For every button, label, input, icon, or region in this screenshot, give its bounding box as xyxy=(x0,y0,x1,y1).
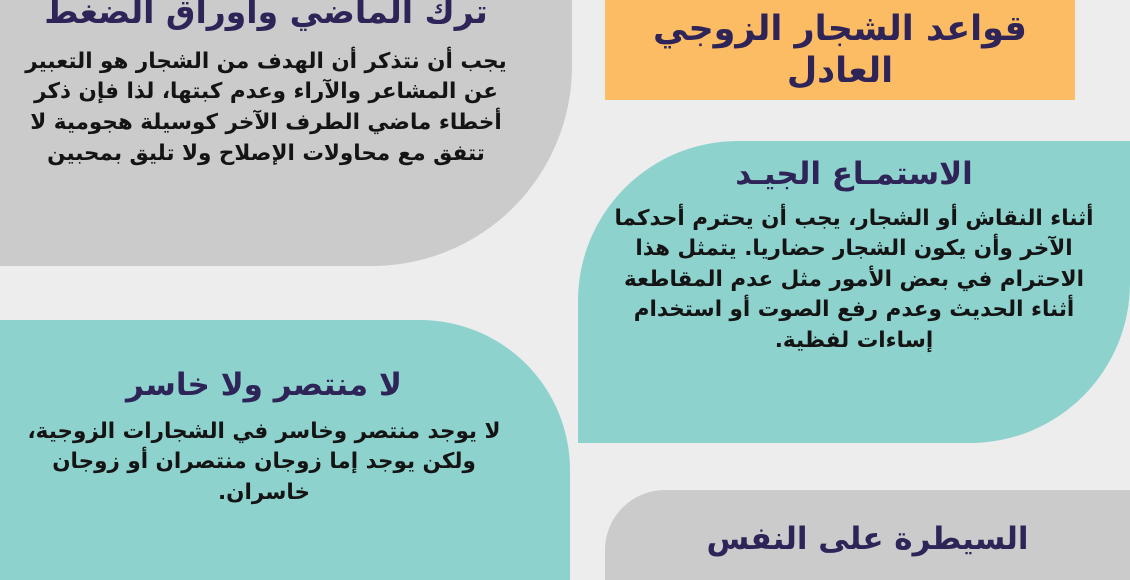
card-good-listening: الاستمـاع الجيـد أثناء النقاش أو الشجار،… xyxy=(578,141,1130,443)
card-self-control: السيطرة على النفس xyxy=(605,490,1130,580)
card-no-winner-no-loser-title: لا منتصر ولا خاسر xyxy=(126,368,402,403)
card-no-winner-no-loser-body: لا يوجد منتصر وخاسر في الشجارات الزوجية،… xyxy=(4,417,524,509)
poster-main-title: قواعد الشجار الزوجي العادل xyxy=(629,8,1051,96)
card-leaving-the-past-body: يجب أن نتذكر أن الهدف من الشجار هو التعب… xyxy=(8,47,524,169)
infographic-canvas: ترك الماضي وأوراق الضغط يجب أن نتذكر أن … xyxy=(0,0,1130,580)
poster-main-title-banner: قواعد الشجار الزوجي العادل xyxy=(605,0,1075,100)
card-self-control-title: السيطرة على النفس xyxy=(706,522,1028,557)
card-good-listening-title: الاستمـاع الجيـد xyxy=(735,157,973,192)
card-leaving-the-past-title: ترك الماضي وأوراق الضغط xyxy=(8,0,524,31)
card-no-winner-no-loser: لا منتصر ولا خاسر لا يوجد منتصر وخاسر في… xyxy=(0,320,570,580)
card-leaving-the-past: ترك الماضي وأوراق الضغط يجب أن نتذكر أن … xyxy=(0,0,572,266)
card-good-listening-body: أثناء النقاش أو الشجار، يجب أن يحترم أحد… xyxy=(612,204,1096,357)
